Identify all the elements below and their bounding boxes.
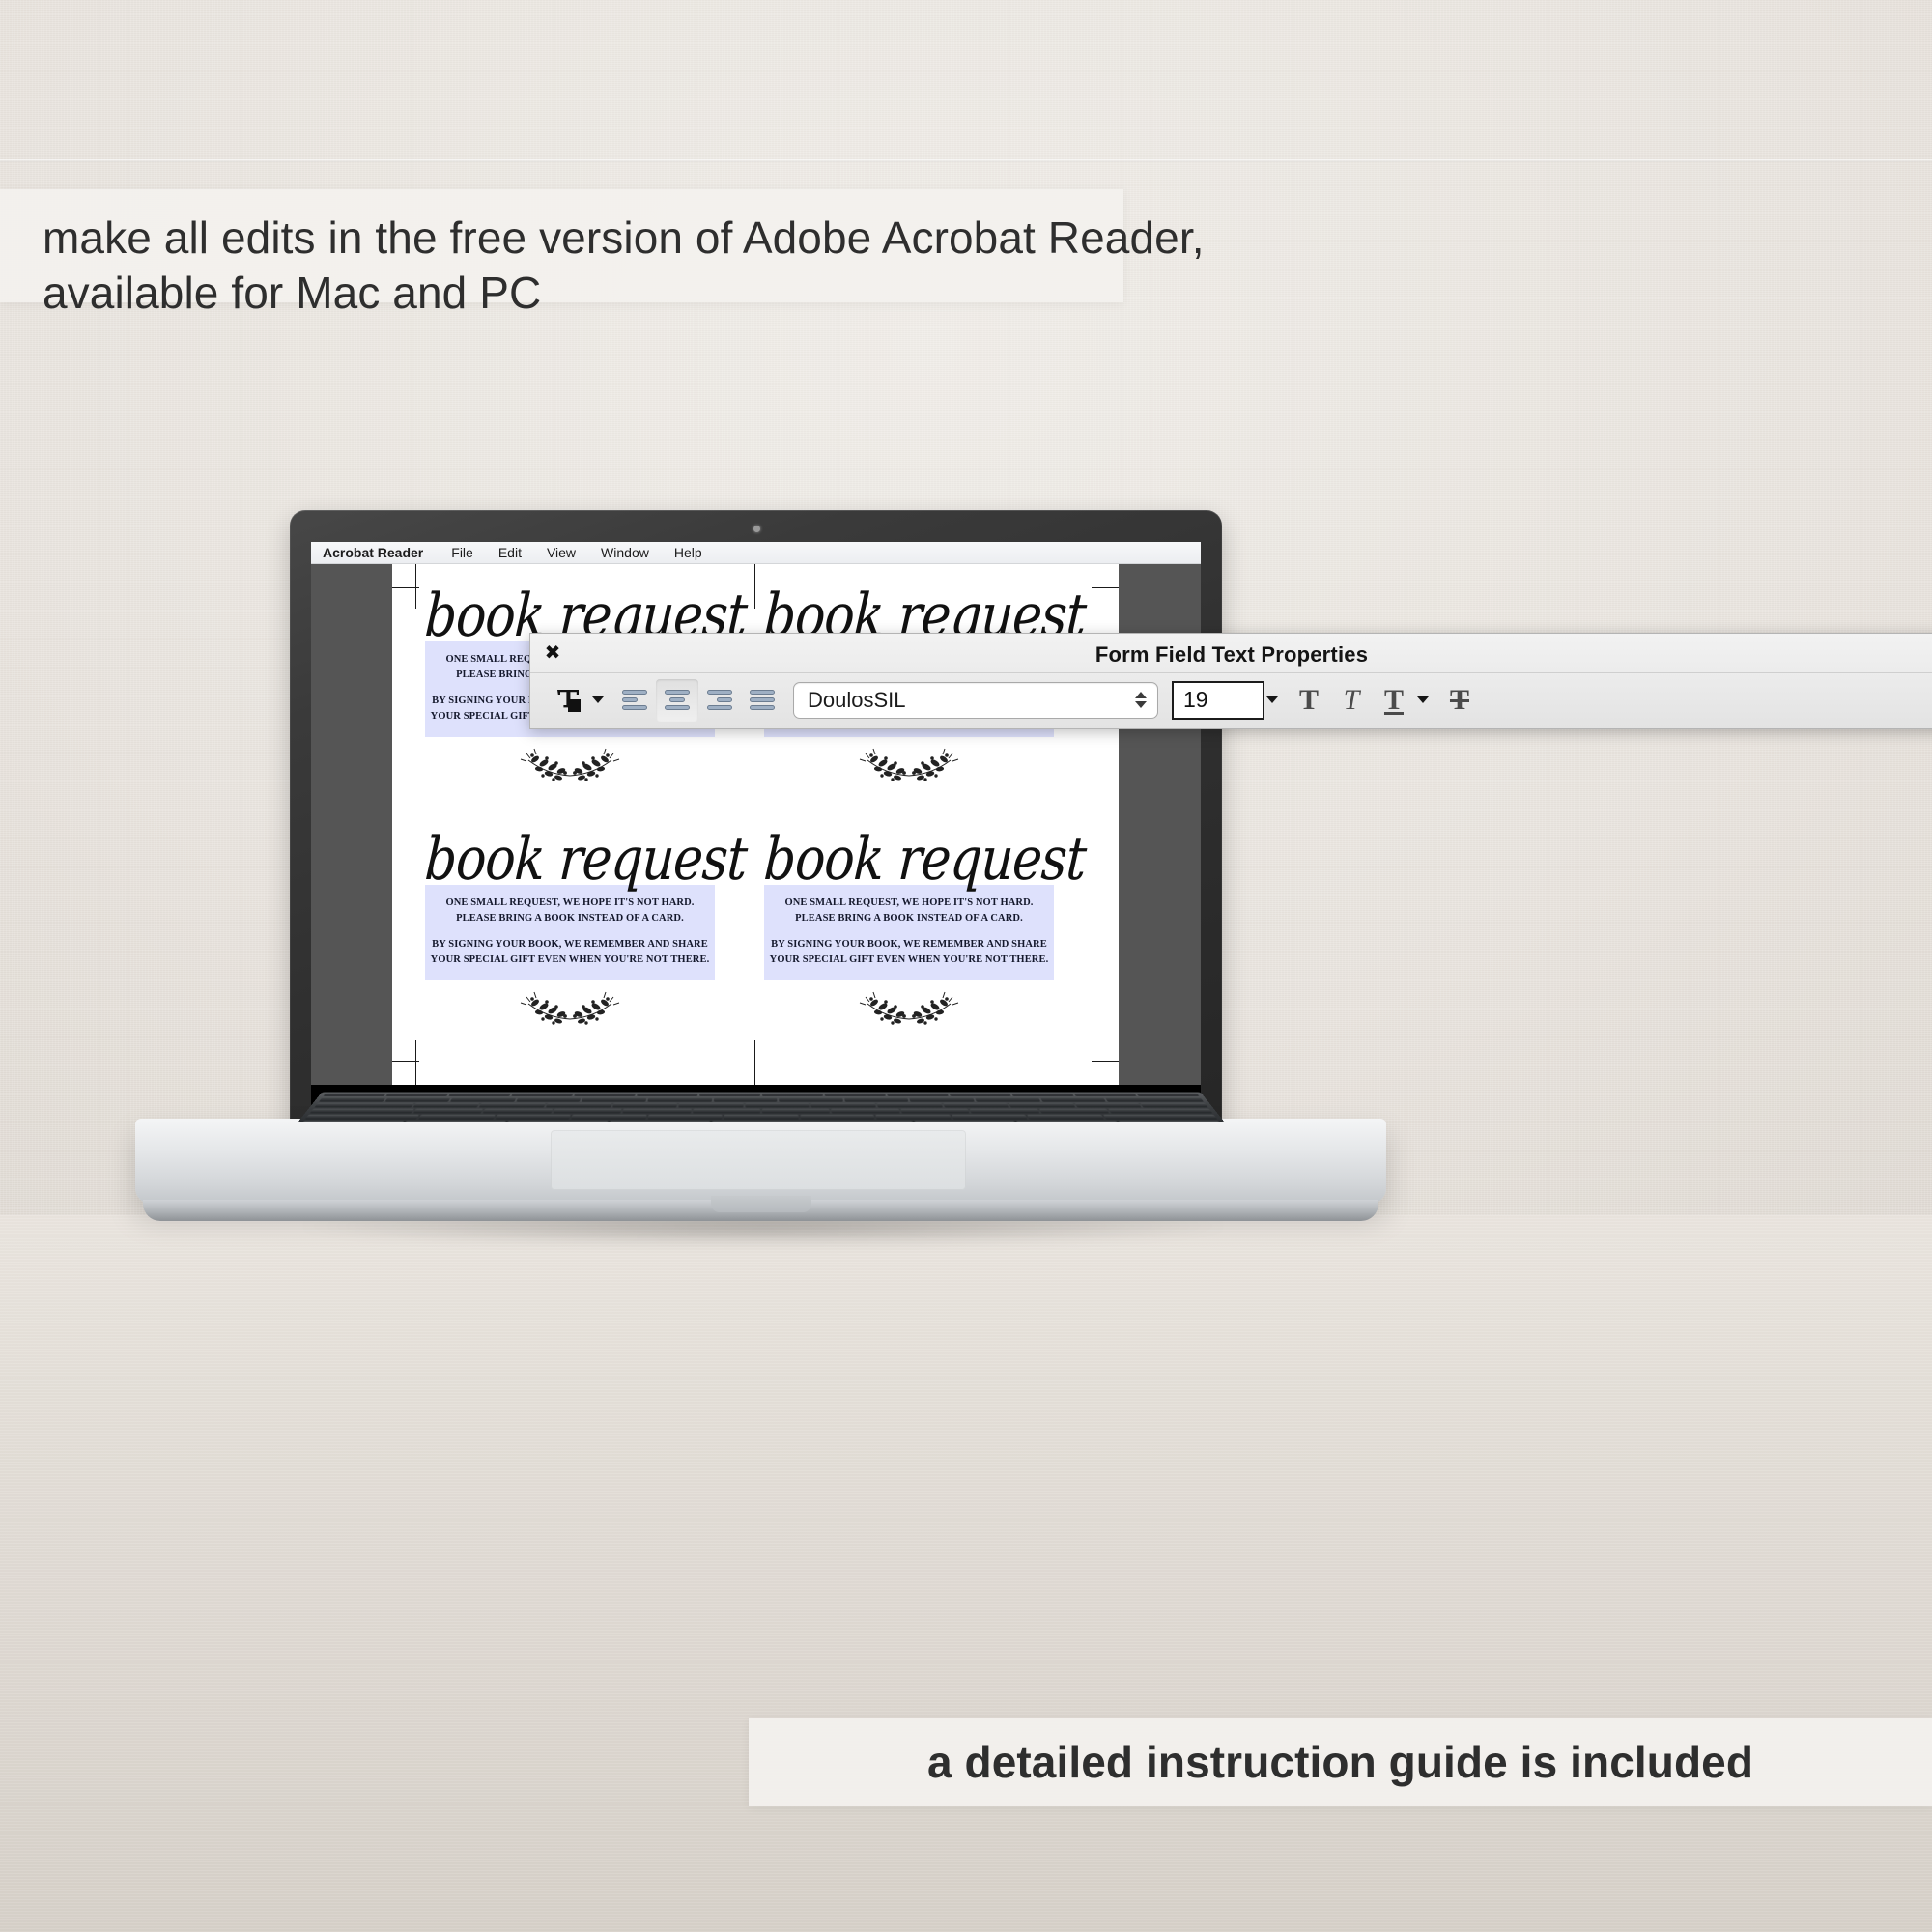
menu-item-acrobat-reader[interactable]: Acrobat Reader [323,545,439,560]
dialog-toolbar[interactable]: DoulosSIL 19 T T T T [530,672,1932,727]
key[interactable] [1011,1094,1073,1096]
key-return[interactable] [1108,1109,1212,1114]
wall-seam [0,159,1932,162]
key[interactable] [571,1115,646,1120]
key-globe[interactable] [300,1121,405,1122]
key[interactable] [385,1094,448,1096]
key-delete[interactable] [1105,1097,1204,1101]
bold-button[interactable]: T [1288,679,1330,722]
font-size-input[interactable]: 19 [1172,681,1264,720]
floral-flourish-icon [425,747,715,787]
align-right-button[interactable] [698,679,741,722]
floral-flourish-icon [764,747,1054,787]
card-body-line-4: YOUR SPECIAL GIFT EVEN WHEN YOU'RE NOT T… [431,954,710,965]
font-size-value: 19 [1183,687,1208,713]
key[interactable] [762,1109,830,1114]
top-caption: make all edits in the free version of Ad… [0,189,1123,302]
scene: make all edits in the free version of Ad… [0,0,1932,1932]
key[interactable] [483,1109,553,1114]
card-body-line-1: ONE SMALL REQUEST, WE HOPE IT'S NOT HARD… [784,897,1033,908]
key[interactable] [679,1103,744,1108]
laptop-screen: Acrobat Reader File Edit View Window Hel… [311,542,1201,1117]
key[interactable] [900,1109,969,1114]
key[interactable] [811,1103,876,1108]
stepper-down-icon[interactable] [1135,701,1147,708]
menu-item-help[interactable]: Help [662,545,715,560]
key[interactable] [647,1097,712,1101]
base-top-surface [135,1119,1386,1204]
key[interactable] [970,1109,1039,1114]
key[interactable] [943,1103,1009,1108]
card-body-line-3: BY SIGNING YOUR BOOK, WE REMEMBER AND SH… [771,939,1047,950]
italic-icon: T [1344,686,1360,715]
key[interactable] [779,1097,842,1101]
key[interactable] [800,1115,874,1120]
italic-button[interactable]: T [1330,679,1373,722]
key-shift-right[interactable] [1103,1115,1217,1120]
key[interactable] [832,1109,900,1114]
card-title: book request [423,830,717,889]
webcam-icon [753,526,760,532]
key[interactable] [887,1094,949,1096]
key[interactable] [1009,1103,1075,1108]
key[interactable] [647,1115,722,1120]
keyboard-row-bottom [300,1115,1222,1120]
key[interactable] [582,1097,646,1101]
laptop-base [135,1119,1386,1225]
trackpad[interactable] [551,1130,966,1190]
key[interactable] [1136,1094,1199,1096]
floral-flourish-icon [764,990,1054,1031]
key-command-right[interactable] [914,1121,1016,1122]
key[interactable] [975,1097,1040,1101]
align-justify-icon [750,690,775,711]
key[interactable] [1141,1103,1208,1108]
key[interactable] [745,1103,810,1108]
key[interactable] [495,1115,571,1120]
key[interactable] [876,1115,952,1120]
align-justify-button[interactable] [741,679,783,722]
strikethrough-button[interactable]: T [1438,679,1481,722]
key[interactable] [324,1094,386,1096]
keyboard-row-home [305,1109,1218,1114]
key[interactable] [877,1103,943,1108]
key-space[interactable] [712,1121,914,1122]
font-family-value: DoulosSIL [808,688,906,713]
top-caption-line-2: available for Mac and PC [43,266,1123,321]
key[interactable] [950,1094,1011,1096]
laptop-mockup: Acrobat Reader File Edit View Window Hel… [135,510,1386,1225]
key[interactable] [1075,1103,1142,1108]
key-command[interactable] [609,1121,710,1122]
floral-flourish-icon [425,990,715,1031]
card-item[interactable]: book request ONE SMALL REQUEST, WE HOPE … [764,835,1054,1031]
underline-icon: T [1384,686,1404,715]
bold-icon: T [1299,686,1319,715]
font-family-select[interactable]: DoulosSIL [793,682,1158,719]
key[interactable] [574,1094,636,1096]
key-tab[interactable] [314,1103,413,1108]
keyboard-row-qwerty [309,1103,1212,1108]
form-field-text[interactable]: ONE SMALL REQUEST, WE HOPE IT'S NOT HARD… [425,885,715,980]
form-field-text-properties-dialog[interactable]: ✖ Form Field Text Properties [529,633,1932,729]
key[interactable] [952,1115,1028,1120]
dialog-title: Form Field Text Properties [530,642,1932,668]
align-center-button[interactable] [656,679,698,722]
text-tool-icon[interactable] [548,679,590,722]
key[interactable] [448,1094,510,1096]
card-body-line-4: YOUR SPECIAL GIFT EVEN WHEN YOU'RE NOT T… [770,954,1049,965]
key[interactable] [825,1094,886,1096]
key[interactable] [713,1097,777,1101]
key-shift[interactable] [305,1115,419,1120]
key-control[interactable] [403,1121,506,1122]
top-caption-line-1: make all edits in the free version of Ad… [43,211,1123,266]
key[interactable] [1027,1115,1103,1120]
key[interactable] [699,1094,760,1096]
menu-item-file[interactable]: File [439,545,486,560]
key[interactable] [762,1094,823,1096]
align-right-icon [707,690,732,711]
font-size-dropdown-icon[interactable] [1266,696,1278,703]
key[interactable] [479,1103,546,1108]
align-left-icon [622,690,647,711]
key-arrows[interactable] [1119,1121,1223,1122]
key[interactable] [909,1097,974,1101]
line-gap [429,926,711,937]
key[interactable] [844,1097,909,1101]
stepper-up-icon[interactable] [1135,692,1147,698]
form-field-text[interactable]: ONE SMALL REQUEST, WE HOPE IT'S NOT HARD… [764,885,1054,980]
align-center-icon [665,690,690,711]
card-body-line-2: PLEASE BRING A BOOK INSTEAD OF A CARD. [456,913,684,923]
key[interactable] [384,1097,451,1101]
dialog-titlebar[interactable]: ✖ Form Field Text Properties [530,634,1932,673]
key[interactable] [1039,1109,1110,1114]
laptop-lid: Acrobat Reader File Edit View Window Hel… [290,510,1222,1140]
key[interactable] [511,1094,573,1096]
card-body-line-2: PLEASE BRING A BOOK INSTEAD OF A CARD. [795,913,1023,923]
card-title: book request [762,830,1056,889]
keyboard-row-numbers [314,1097,1208,1101]
screen-viewport: Acrobat Reader File Edit View Window Hel… [311,542,1201,1085]
stepper-icon[interactable] [1134,689,1148,712]
text-tool-dropdown-icon[interactable] [592,696,604,703]
key[interactable] [546,1103,611,1108]
card-item[interactable]: book request ONE SMALL REQUEST, WE HOPE … [425,835,715,1031]
key[interactable] [319,1097,385,1101]
bottom-caption: a detailed instruction guide is included [749,1718,1932,1806]
underline-button[interactable]: T [1373,679,1415,722]
card-body-line-1: ONE SMALL REQUEST, WE HOPE IT'S NOT HARD… [445,897,694,908]
key[interactable] [623,1109,692,1114]
card-body-line-3: BY SIGNING YOUR BOOK, WE REMEMBER AND SH… [432,939,708,950]
key[interactable] [418,1115,495,1120]
desk-texture [0,1215,1932,1932]
key[interactable] [553,1109,621,1114]
key-option-right[interactable] [1016,1121,1120,1122]
keyboard-row-function [319,1094,1204,1096]
keyboard[interactable] [298,1092,1225,1122]
menu-item-window[interactable]: Window [588,545,662,560]
keyboard-row-modifiers [298,1121,1225,1122]
menu-item-edit[interactable]: Edit [486,545,534,560]
base-notch [711,1196,811,1212]
key[interactable] [612,1103,677,1108]
key[interactable] [450,1097,516,1101]
key[interactable] [1074,1094,1137,1096]
mac-menu-bar[interactable]: Acrobat Reader File Edit View Window Hel… [311,542,1201,564]
key[interactable] [693,1109,760,1114]
key[interactable] [413,1103,480,1108]
menu-item-view[interactable]: View [534,545,588,560]
strikethrough-icon: T [1450,686,1469,715]
align-left-button[interactable] [613,679,656,722]
key[interactable] [724,1115,798,1120]
key[interactable] [413,1109,484,1114]
key[interactable] [637,1094,697,1096]
line-gap [768,926,1050,937]
key[interactable] [516,1097,582,1101]
bottom-caption-text: a detailed instruction guide is included [927,1736,1753,1788]
underline-dropdown-icon[interactable] [1417,696,1429,703]
key[interactable] [1039,1097,1105,1101]
key-option[interactable] [506,1121,609,1122]
key-caps-lock[interactable] [310,1109,414,1114]
